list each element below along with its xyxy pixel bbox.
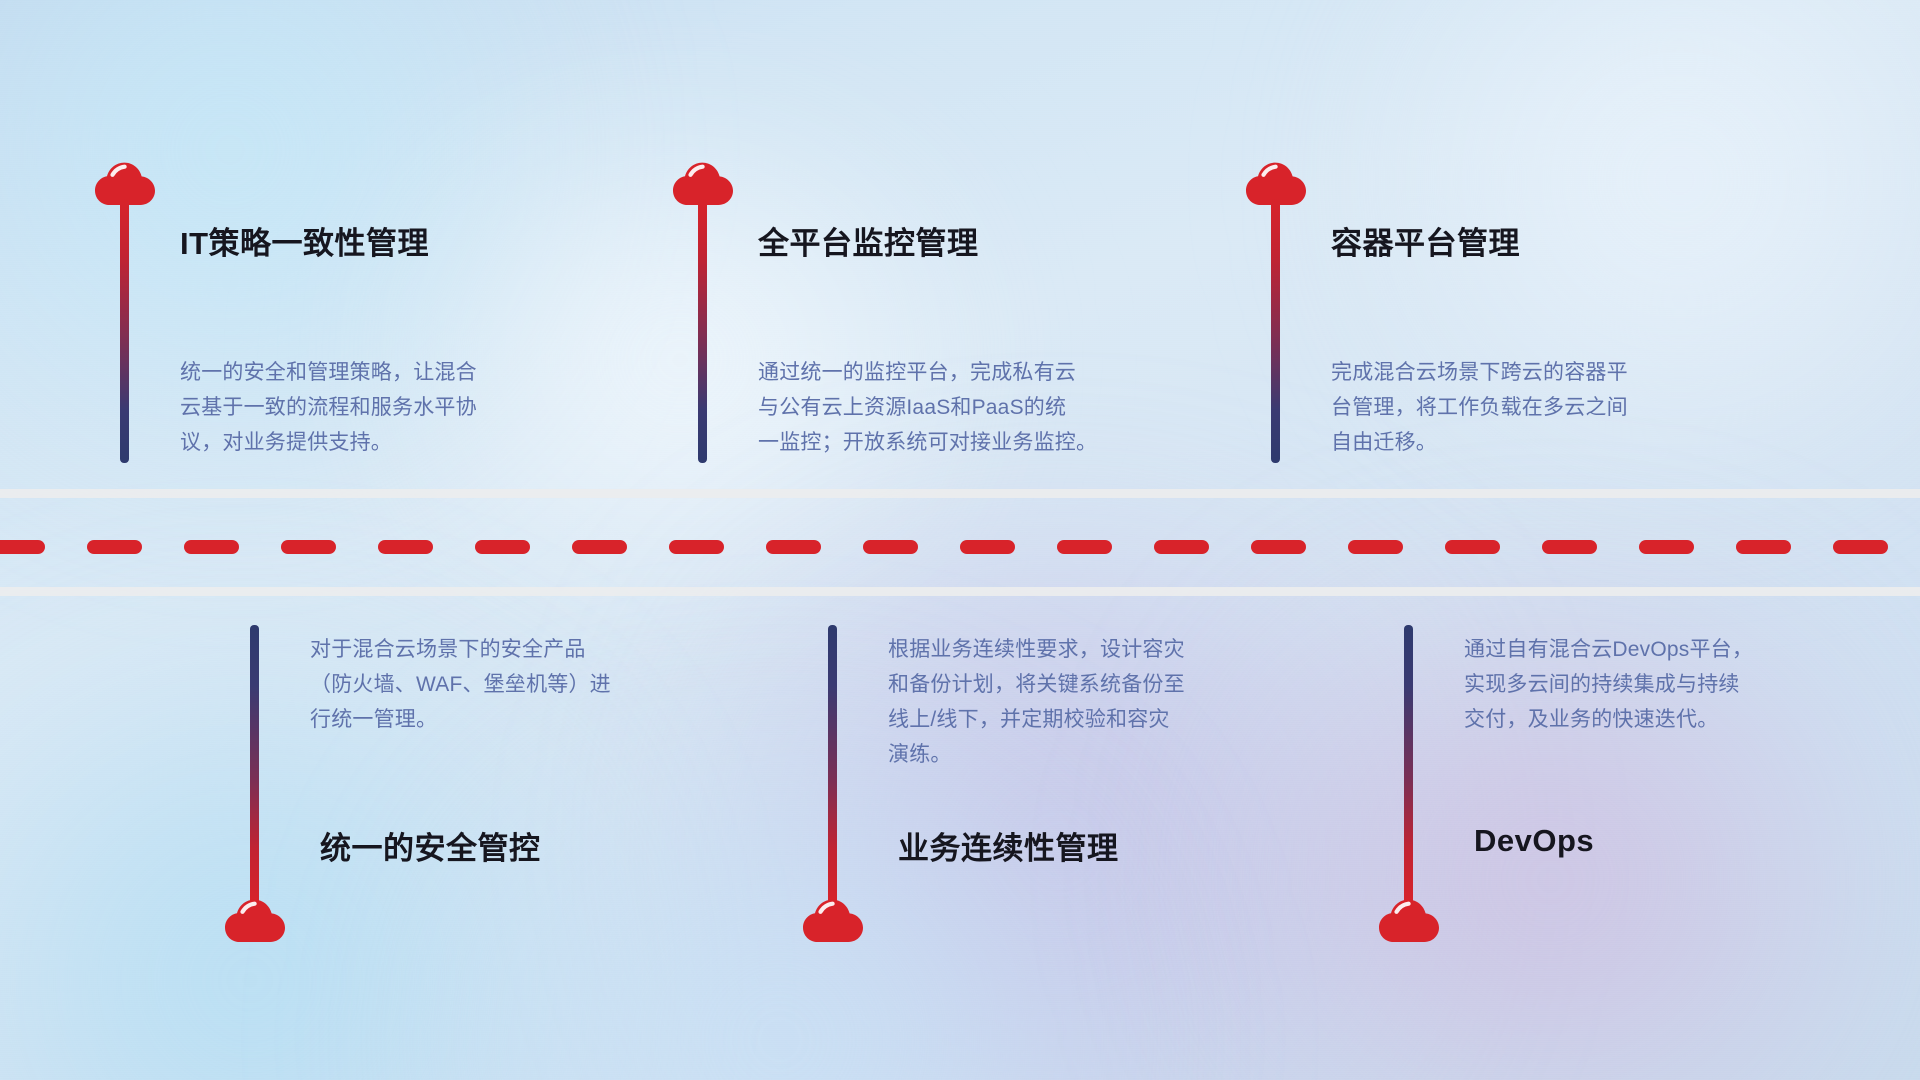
divider-dash bbox=[281, 540, 336, 554]
divider-dash bbox=[184, 540, 239, 554]
divider-dash bbox=[572, 540, 627, 554]
card-title: DevOps bbox=[1474, 823, 1594, 859]
connector-bar bbox=[120, 198, 129, 463]
card-title: 全平台监控管理 bbox=[758, 218, 979, 263]
divider-dash bbox=[1057, 540, 1112, 554]
divider-dash bbox=[960, 540, 1015, 554]
cloud-icon bbox=[802, 897, 864, 943]
card-body: 通过统一的监控平台，完成私有云 与公有云上资源IaaS和PaaS的统 一监控；开… bbox=[758, 355, 1218, 460]
divider-dash bbox=[1251, 540, 1306, 554]
divider-dash bbox=[1833, 540, 1888, 554]
card-title: 统一的安全管控 bbox=[320, 823, 541, 868]
divider-dash bbox=[669, 540, 724, 554]
divider-dash bbox=[1736, 540, 1791, 554]
connector-bar bbox=[1404, 625, 1413, 905]
card-body: 统一的安全和管理策略，让混合 云基于一致的流程和服务水平协 议，对业务提供支持。 bbox=[180, 355, 620, 460]
divider-dash bbox=[863, 540, 918, 554]
cloud-icon bbox=[1378, 897, 1440, 943]
divider-dash bbox=[766, 540, 821, 554]
divider-dash bbox=[1639, 540, 1694, 554]
divider-dash bbox=[1348, 540, 1403, 554]
connector-bar bbox=[698, 198, 707, 463]
divider-dashed-line bbox=[0, 540, 1920, 554]
card-title: 容器平台管理 bbox=[1331, 218, 1520, 263]
connector-bar bbox=[828, 625, 837, 905]
divider-dash bbox=[1542, 540, 1597, 554]
divider-rule-top bbox=[0, 489, 1920, 498]
divider-dash bbox=[475, 540, 530, 554]
card-body: 完成混合云场景下跨云的容器平 台管理，将工作负载在多云之间 自由迁移。 bbox=[1331, 355, 1771, 460]
divider-dash bbox=[1154, 540, 1209, 554]
card-body: 根据业务连续性要求，设计容灾 和备份计划，将关键系统备份至 线上/线下，并定期校… bbox=[888, 632, 1328, 772]
infographic-canvas: IT策略一致性管理 统一的安全和管理策略，让混合 云基于一致的流程和服务水平协 … bbox=[0, 0, 1920, 1080]
card-title: IT策略一致性管理 bbox=[180, 218, 429, 263]
divider-rule-bottom bbox=[0, 587, 1920, 596]
card-body: 对于混合云场景下的安全产品 （防火墙、WAF、堡垒机等）进 行统一管理。 bbox=[310, 632, 750, 737]
dash-track bbox=[0, 540, 1920, 554]
divider-dash bbox=[0, 540, 45, 554]
cloud-icon bbox=[224, 897, 286, 943]
divider-dash bbox=[1445, 540, 1500, 554]
card-body: 通过自有混合云DevOps平台， 实现多云间的持续集成与持续 交付，及业务的快速… bbox=[1464, 632, 1904, 737]
connector-bar bbox=[1271, 198, 1280, 463]
divider-dash bbox=[87, 540, 142, 554]
divider-dash bbox=[378, 540, 433, 554]
card-title: 业务连续性管理 bbox=[898, 823, 1119, 868]
connector-bar bbox=[250, 625, 259, 905]
